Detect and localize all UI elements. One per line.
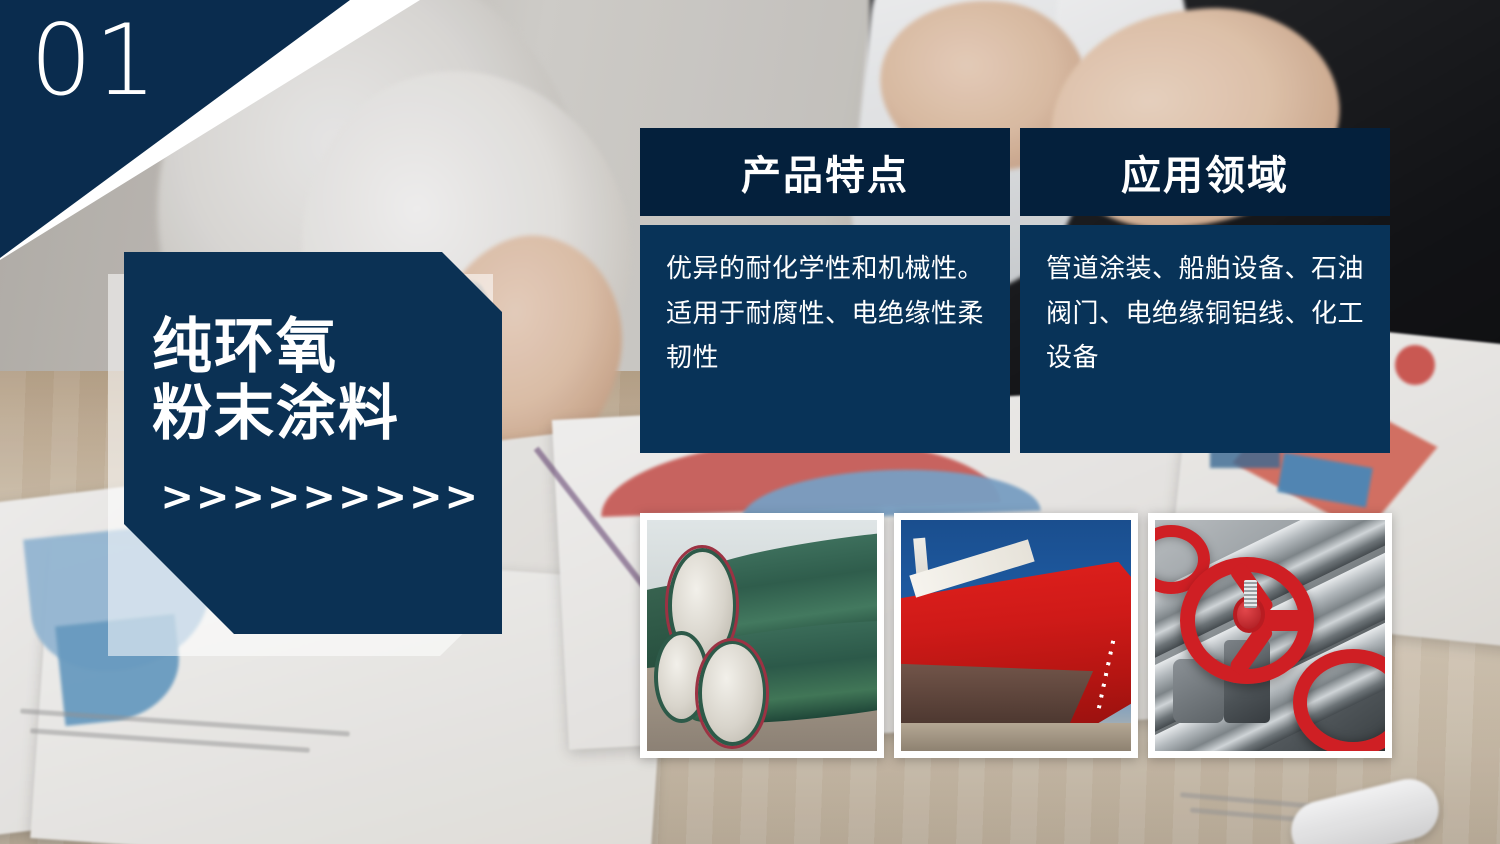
title-line-2: 粉末涂料 <box>124 381 502 448</box>
section-number-badge: 01 <box>0 0 420 260</box>
photo-coated-steel-pipes <box>640 513 884 758</box>
photo-red-valve-handwheels-image <box>1155 520 1385 751</box>
photo-red-ship-hull-image <box>901 520 1131 751</box>
panel-body-features-text: 优异的耐化学性和机械性。适用于耐腐性、电绝缘性柔韧性 <box>666 247 984 381</box>
panel-header-applications: 应用领域 <box>1020 128 1390 216</box>
valve-stem <box>1244 580 1258 608</box>
panel-header-features-label: 产品特点 <box>741 143 909 201</box>
title-card: 纯环氧 粉末涂料 >>>>>>>>> <box>124 252 502 634</box>
photo-red-valve-handwheels <box>1148 513 1392 758</box>
info-panel-applications: 应用领域 管道涂装、船舶设备、石油阀门、电绝缘铜铝线、化工设备 <box>1020 128 1390 453</box>
chevron-arrows-icon: >>>>>>>>> <box>124 474 502 520</box>
panel-header-applications-label: 应用领域 <box>1121 143 1289 201</box>
info-panel-features: 产品特点 优异的耐化学性和机械性。适用于耐腐性、电绝缘性柔韧性 <box>640 128 1010 453</box>
ship-drydock-ground <box>901 723 1131 751</box>
panel-divider <box>1020 216 1390 225</box>
photo-red-ship-hull <box>894 513 1138 758</box>
title-line-1: 纯环氧 <box>124 314 502 381</box>
panel-header-features: 产品特点 <box>640 128 1010 216</box>
slide-canvas: 01 纯环氧 粉末涂料 >>>>>>>>> 产品特点 优异的耐化学性和机械性。适… <box>0 0 1500 844</box>
panel-body-applications-text: 管道涂装、船舶设备、石油阀门、电绝缘铜铝线、化工设备 <box>1046 247 1364 381</box>
photo-coated-steel-pipes-image <box>647 520 877 751</box>
panel-divider <box>640 216 1010 225</box>
panel-body-features: 优异的耐化学性和机械性。适用于耐腐性、电绝缘性柔韧性 <box>640 225 1010 453</box>
panel-body-applications: 管道涂装、船舶设备、石油阀门、电绝缘铜铝线、化工设备 <box>1020 225 1390 453</box>
info-panel-group: 产品特点 优异的耐化学性和机械性。适用于耐腐性、电绝缘性柔韧性 应用领域 管道涂… <box>640 128 1390 453</box>
photo-strip <box>640 513 1392 758</box>
pipe-end-ring <box>695 638 769 749</box>
section-number-text: 01 <box>30 12 159 110</box>
